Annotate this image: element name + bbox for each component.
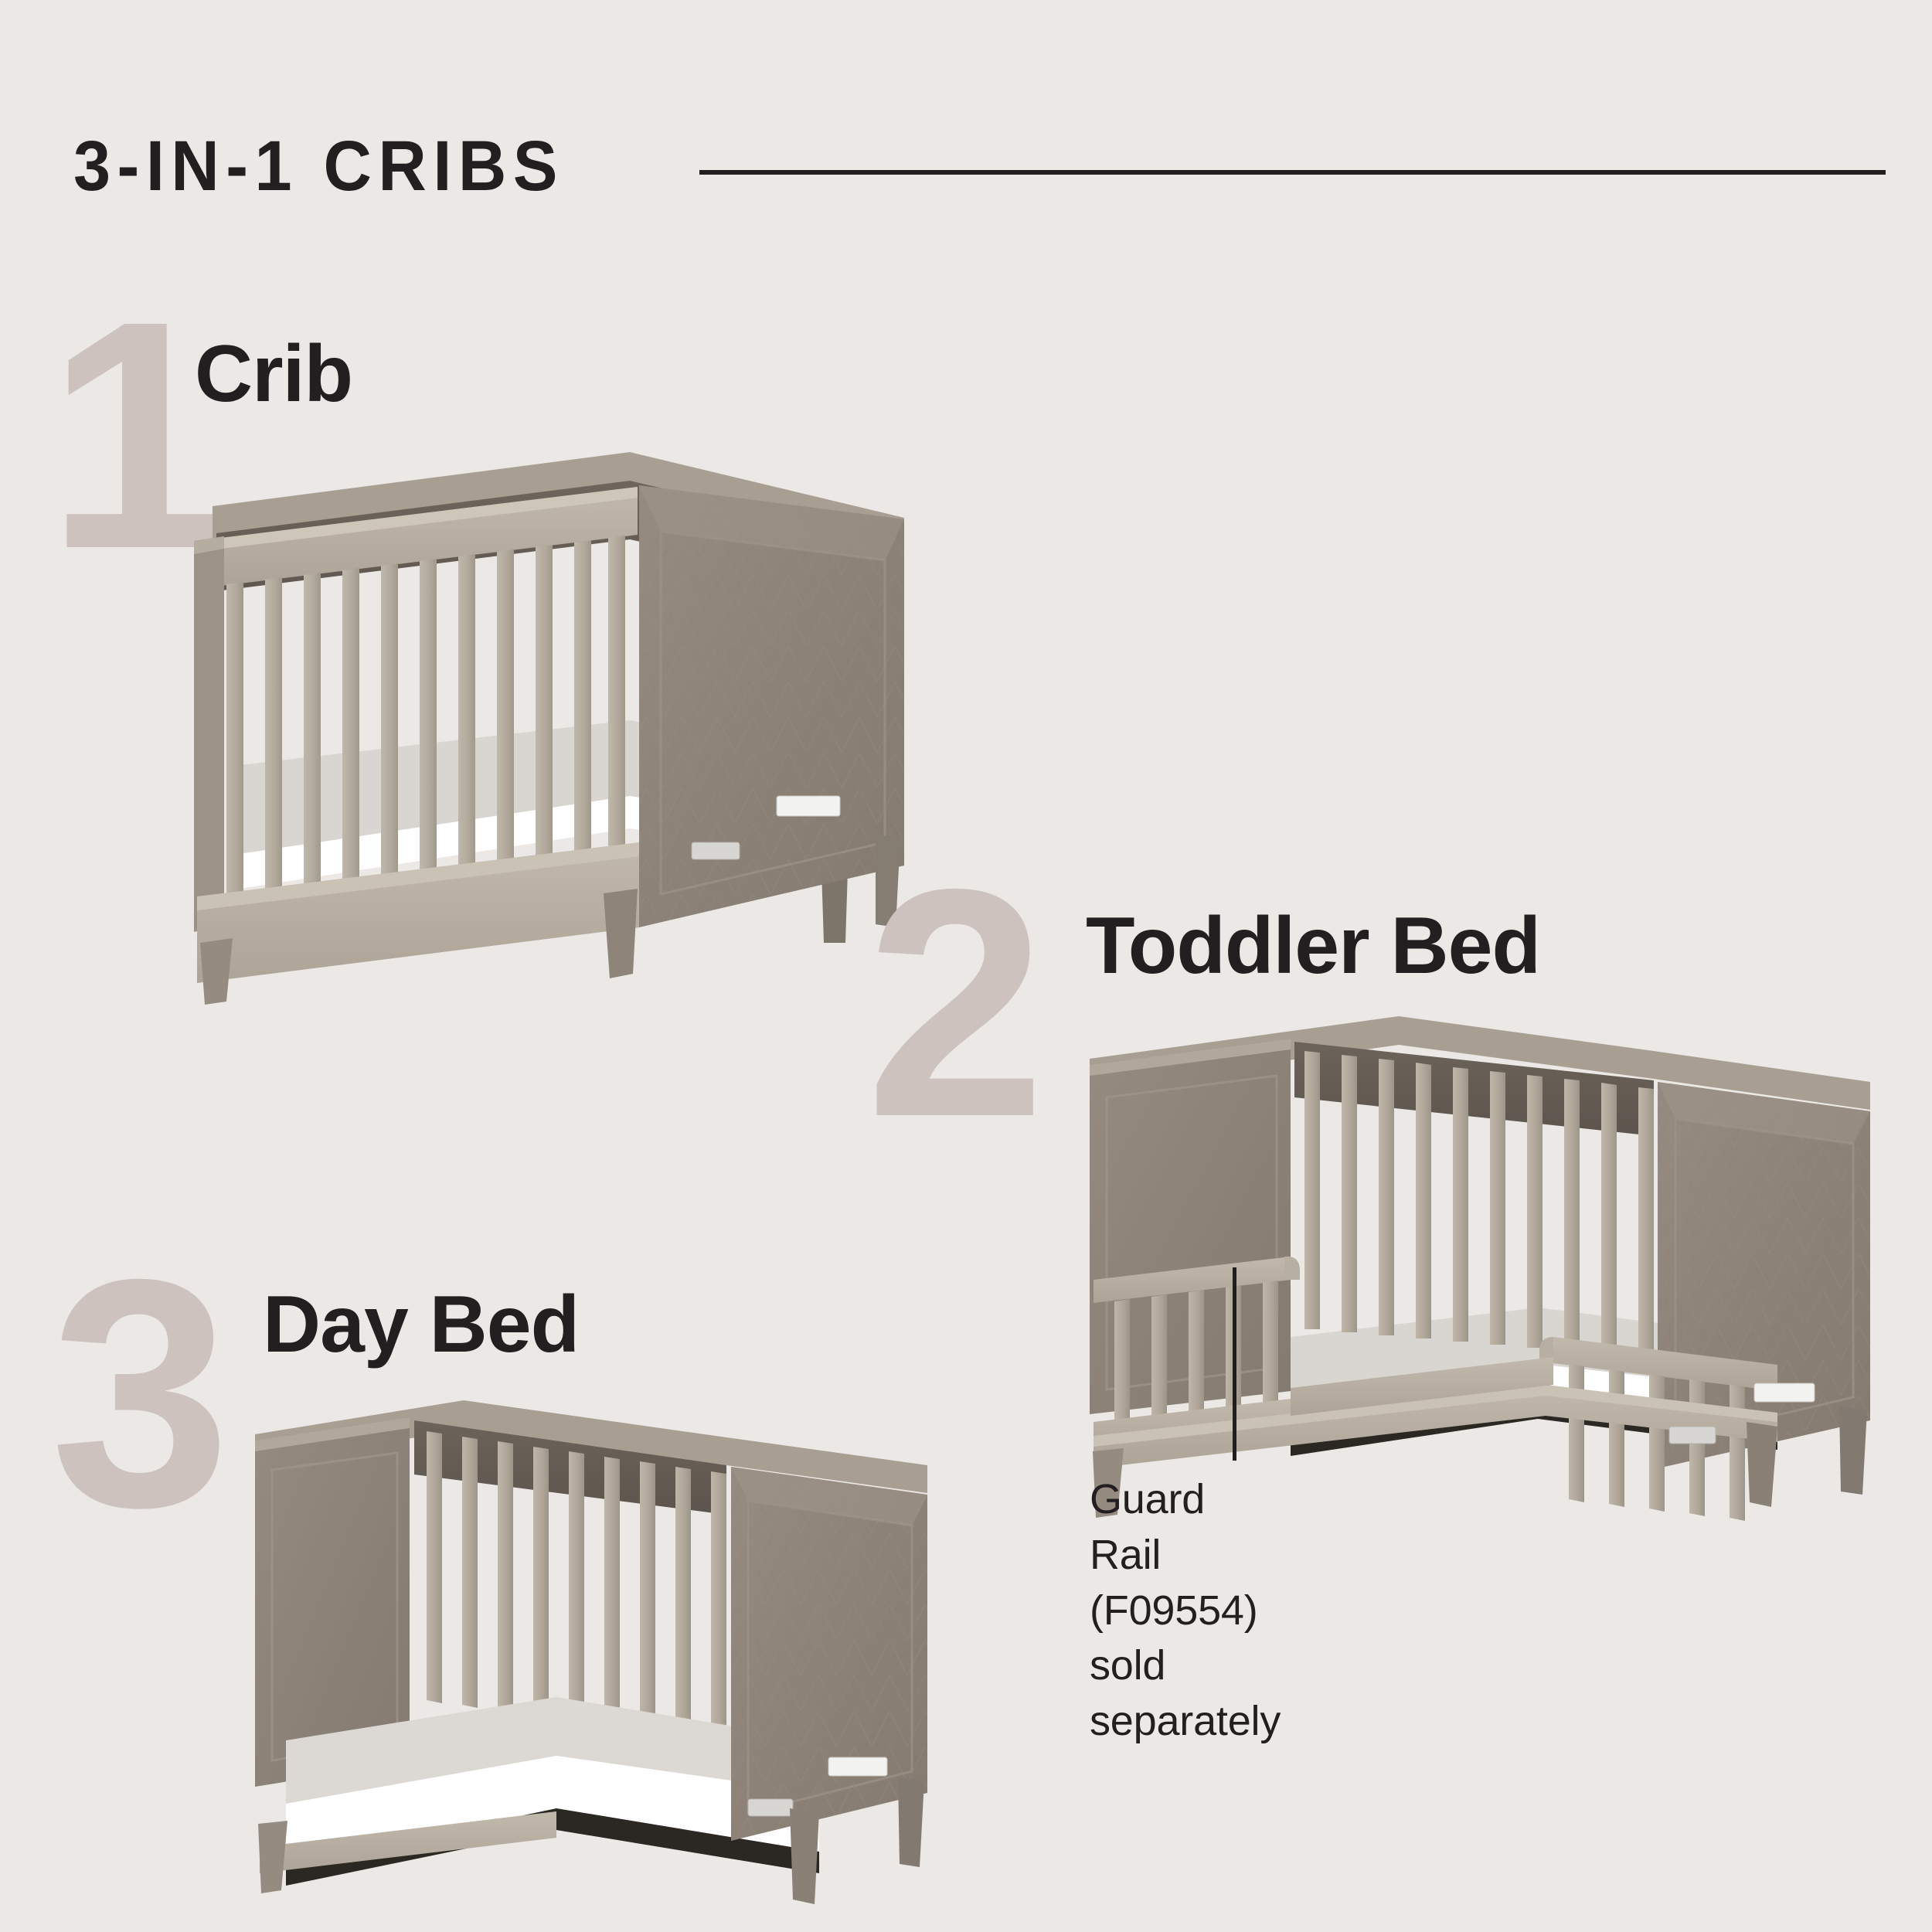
crib-slat [342, 568, 359, 901]
toddler-slat [1564, 1079, 1580, 1351]
toddler-slat [1416, 1063, 1431, 1338]
toddler-slat [1379, 1059, 1394, 1335]
daybed-slat [427, 1431, 442, 1703]
crib-slat [265, 577, 282, 912]
poster-canvas: 3-IN-1 CRIBS 1 Crib [0, 0, 1932, 1932]
daybed-slat [640, 1461, 655, 1731]
crib-slat [497, 549, 514, 879]
crib-slat [458, 554, 475, 885]
brand-plate [1669, 1427, 1716, 1444]
daybed-slat [675, 1467, 691, 1736]
daybed-leg-front-right [790, 1808, 819, 1904]
step-number-2: 2 [866, 877, 1046, 1131]
daybed-leg-back-right [898, 1777, 924, 1867]
day-bed-illustration [232, 1391, 1005, 1920]
guard-rail-slat [1609, 1369, 1624, 1507]
title-divider-rule [699, 170, 1886, 175]
guard-rail-slat [1730, 1385, 1745, 1521]
crib-slat [304, 573, 321, 906]
toddler-slat [1601, 1083, 1617, 1354]
crib-slat [574, 540, 591, 869]
toddler-slat [1342, 1055, 1357, 1332]
step-label-toddler-bed: Toddler Bed [1086, 900, 1540, 992]
compliance-label [777, 796, 840, 816]
toddler-slat [1490, 1071, 1505, 1345]
crib-left-post [194, 536, 224, 932]
crib-slat [226, 582, 243, 917]
crib-slat [381, 563, 398, 896]
daybed-slat [604, 1457, 620, 1726]
toddler-slat [1304, 1051, 1320, 1329]
toddler-slat [1638, 1087, 1654, 1357]
guard-rail-annotation: Guard Rail (F09554) sold separately [1090, 1472, 1281, 1750]
guard-rail-slat [1689, 1379, 1705, 1516]
toddler-slat [1527, 1075, 1543, 1348]
step-number-3: 3 [50, 1267, 231, 1521]
crib-illustration [166, 433, 923, 1009]
daybed-back-slat-group [427, 1431, 726, 1740]
daybed-slat [462, 1437, 478, 1708]
page-header: 3-IN-1 CRIBS [0, 0, 1932, 232]
guard-rail-left-round-end [1284, 1257, 1300, 1280]
compliance-label [828, 1757, 887, 1776]
guard-rail-slat [1569, 1365, 1584, 1502]
brand-plate [692, 842, 740, 859]
compliance-label [1754, 1383, 1815, 1402]
crib-slat [608, 536, 625, 864]
crib-leg-front-right [604, 889, 638, 978]
daybed-slat [533, 1447, 549, 1717]
toddler-slat [1453, 1067, 1468, 1342]
toddler-bed-illustration [1059, 1005, 1909, 1542]
page-title: 3-IN-1 CRIBS [73, 126, 564, 207]
guard-rail-slat [1649, 1375, 1665, 1512]
daybed-slat [569, 1451, 584, 1722]
daybed-slat [711, 1471, 726, 1740]
step-label-day-bed: Day Bed [263, 1279, 579, 1371]
daybed-slat [498, 1441, 513, 1713]
toddler-leg-back-right [1839, 1406, 1867, 1495]
crib-leg-front-left [200, 938, 233, 1005]
step-label-crib: Crib [195, 328, 352, 420]
brand-plate [748, 1799, 793, 1816]
toddler-leg-front-right [1747, 1422, 1777, 1507]
daybed-leg-front-left [258, 1821, 287, 1893]
crib-slat [536, 545, 553, 874]
leader-line [1233, 1267, 1236, 1461]
crib-slat [420, 559, 437, 890]
